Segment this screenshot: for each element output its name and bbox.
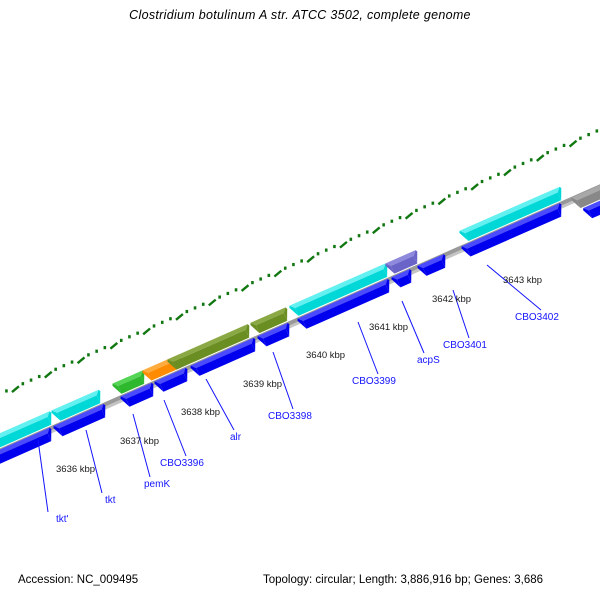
pemk-label[interactable]: pemK bbox=[144, 479, 170, 490]
tick-mark bbox=[38, 375, 41, 378]
cbo3401-label[interactable]: CBO3401 bbox=[443, 340, 487, 351]
tkt-prime-label-leader bbox=[38, 440, 48, 512]
tick-mark bbox=[481, 180, 484, 183]
tick-mark bbox=[358, 234, 361, 237]
tick-mark bbox=[405, 212, 413, 220]
gene-feature-layer bbox=[0, 178, 600, 469]
tick-mark bbox=[120, 339, 123, 342]
genome-stats-text: Topology: circular; Length: 3,886,916 bp… bbox=[263, 574, 543, 586]
tick-mark bbox=[350, 238, 353, 241]
tick-mark bbox=[284, 267, 287, 270]
cbo3396-label[interactable]: CBO3396 bbox=[160, 458, 204, 469]
tick-mark bbox=[218, 295, 221, 298]
tick-mark bbox=[77, 356, 85, 364]
tick-mark bbox=[208, 299, 216, 307]
tick-mark bbox=[432, 202, 435, 205]
tick-mark bbox=[71, 360, 74, 363]
tick-mark bbox=[536, 154, 544, 162]
tick-mark bbox=[372, 226, 380, 234]
tick-mark bbox=[448, 194, 451, 197]
gene-label-layer: tkt'tktpemKCBO3396alrCBO3398CBO3399acpSC… bbox=[56, 312, 559, 525]
tick-mark bbox=[268, 274, 271, 277]
tick-mark bbox=[44, 371, 52, 379]
cbo3399-label[interactable]: CBO3399 bbox=[352, 376, 396, 387]
tick-mark bbox=[292, 263, 295, 266]
cbo3398-label[interactable]: CBO3398 bbox=[268, 411, 312, 422]
tick-mark bbox=[110, 342, 118, 350]
acps-label[interactable]: acpS bbox=[417, 355, 440, 366]
tick-mark bbox=[339, 241, 347, 249]
tick-mark bbox=[317, 252, 320, 255]
tick-mark bbox=[259, 277, 262, 280]
tick-mark bbox=[175, 313, 183, 321]
tick-mark bbox=[11, 385, 19, 393]
gene-cbo3401-forward[interactable] bbox=[417, 254, 450, 278]
genome-map-viewer: Clostridium botulinum A str. ATCC 3502, … bbox=[0, 0, 600, 600]
tick-mark bbox=[30, 379, 33, 382]
tkt-label-leader bbox=[86, 430, 102, 493]
pos-3636: 3636 kbp bbox=[56, 464, 95, 475]
genome-map-canvas: 3636 kbp3637 kbp3638 kbp3639 kbp3640 kbp… bbox=[0, 0, 600, 600]
tick-mark bbox=[438, 198, 446, 206]
tick-mark bbox=[202, 303, 205, 306]
tick-mark bbox=[153, 324, 156, 327]
tick-mark bbox=[555, 147, 558, 150]
cbo3402-label[interactable]: CBO3402 bbox=[515, 312, 559, 323]
tick-mark bbox=[522, 162, 525, 165]
tick-mark bbox=[333, 245, 336, 248]
pos-3643: 3643 kbp bbox=[503, 275, 542, 286]
tick-mark bbox=[251, 281, 254, 284]
tkt-label[interactable]: tkt bbox=[105, 495, 116, 506]
tick-mark bbox=[563, 144, 566, 147]
tick-mark bbox=[63, 364, 66, 367]
status-bar: Accession: NC_009495 Topology: circular;… bbox=[0, 566, 600, 600]
tick-mark bbox=[456, 191, 459, 194]
tick-mark bbox=[530, 158, 533, 161]
tick-mark bbox=[306, 255, 314, 263]
tick-mark bbox=[423, 205, 426, 208]
tick-mark bbox=[54, 368, 57, 371]
tick-mark bbox=[169, 317, 172, 320]
tick-mark bbox=[128, 335, 131, 338]
pos-3639: 3639 kbp bbox=[243, 379, 282, 390]
tick-mark bbox=[503, 169, 511, 177]
alr-label-leader bbox=[206, 379, 234, 430]
accession-text: Accession: NC_009495 bbox=[18, 574, 138, 586]
tick-mark bbox=[136, 332, 139, 335]
tick-mark bbox=[464, 187, 467, 190]
tick-mark bbox=[227, 292, 230, 295]
tick-mark bbox=[399, 216, 402, 219]
pos-3638: 3638 kbp bbox=[181, 407, 220, 418]
tick-mark bbox=[235, 288, 238, 291]
tick-mark bbox=[415, 209, 418, 212]
tick-mark bbox=[391, 220, 394, 223]
tick-mark bbox=[241, 284, 249, 292]
cbo3402-label-leader bbox=[487, 265, 541, 310]
tick-mark bbox=[5, 389, 8, 392]
tick-mark bbox=[579, 137, 582, 140]
tick-mark bbox=[274, 270, 282, 278]
tick-mark bbox=[596, 129, 599, 132]
tick-mark bbox=[300, 259, 303, 262]
tick-mark-layer bbox=[0, 122, 600, 422]
tick-mark bbox=[161, 321, 164, 324]
alr-label[interactable]: alr bbox=[230, 432, 242, 443]
tick-mark bbox=[587, 133, 590, 136]
tick-mark bbox=[514, 165, 517, 168]
tick-mark bbox=[382, 223, 385, 226]
tick-mark bbox=[546, 151, 549, 154]
tick-mark bbox=[470, 183, 478, 191]
tick-mark bbox=[325, 249, 328, 252]
tkt-prime-label[interactable]: tkt' bbox=[56, 514, 69, 525]
pos-3640: 3640 kbp bbox=[306, 350, 345, 361]
tick-mark bbox=[366, 230, 369, 233]
tick-mark bbox=[569, 140, 577, 148]
tick-mark bbox=[489, 176, 492, 179]
tick-mark bbox=[95, 350, 98, 353]
tick-mark bbox=[87, 353, 90, 356]
pos-3641: 3641 kbp bbox=[369, 322, 408, 333]
tick-mark bbox=[186, 310, 189, 313]
tick-mark bbox=[22, 382, 25, 385]
tick-mark bbox=[142, 328, 150, 336]
pos-3637: 3637 kbp bbox=[120, 436, 159, 447]
tick-mark bbox=[194, 306, 197, 309]
tick-mark bbox=[104, 346, 107, 349]
tick-mark bbox=[497, 173, 500, 176]
pos-3642: 3642 kbp bbox=[432, 294, 471, 305]
